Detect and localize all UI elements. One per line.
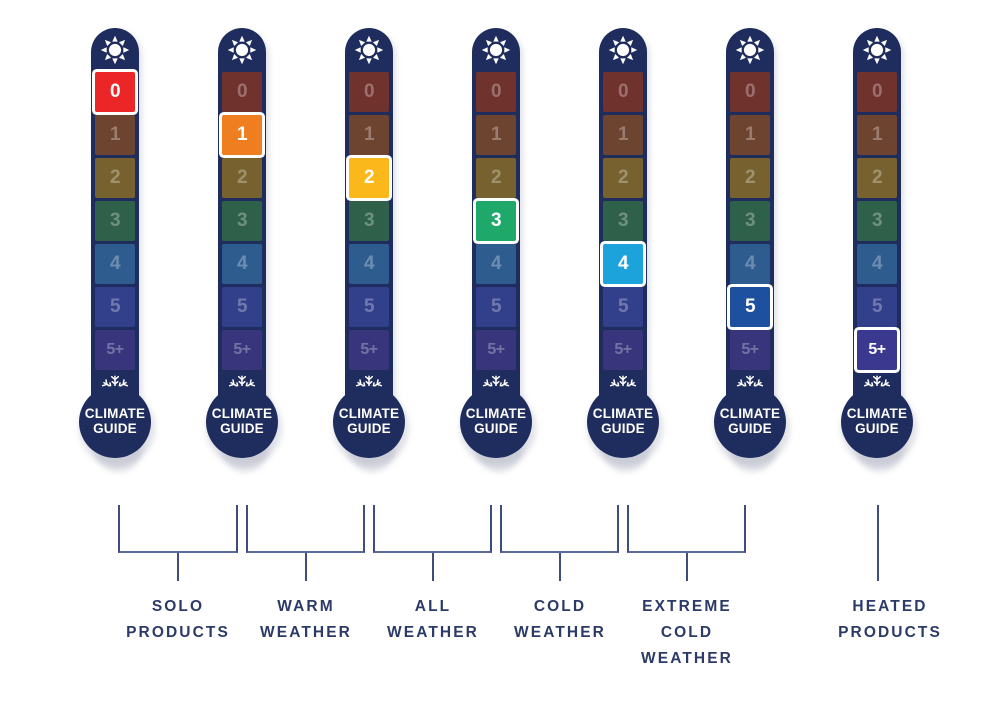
thermometer-level-5plus[interactable]: 0123455+CLIMATEGUIDE xyxy=(853,28,901,428)
level-cell-0[interactable]: 0 xyxy=(730,72,770,112)
level-cell-3[interactable]: 3 xyxy=(349,201,389,241)
group-bracket-warm-weather xyxy=(246,505,365,553)
level-scale: 0123455+ xyxy=(222,72,262,370)
level-cell-4[interactable]: 4 xyxy=(857,244,897,284)
group-bracket-extreme-cold-weather xyxy=(627,505,746,553)
level-cell-4-active[interactable]: 4 xyxy=(603,244,643,284)
level-cell-0[interactable]: 0 xyxy=(857,72,897,112)
level-cell-3[interactable]: 3 xyxy=(857,201,897,241)
level-cell-4[interactable]: 4 xyxy=(730,244,770,284)
level-cell-1[interactable]: 1 xyxy=(603,115,643,155)
level-cell-5plus[interactable]: 5+ xyxy=(95,330,135,370)
level-cell-4[interactable]: 4 xyxy=(476,244,516,284)
level-cell-5plus[interactable]: 5+ xyxy=(349,330,389,370)
thermometer-tube: 0123455+ xyxy=(599,28,647,428)
level-cell-1[interactable]: 1 xyxy=(857,115,897,155)
bulb-label-line2: GUIDE xyxy=(220,422,264,437)
sun-icon xyxy=(95,28,135,72)
climate-guide-bulb[interactable]: CLIMATEGUIDE xyxy=(714,386,786,458)
level-cell-5plus[interactable]: 5+ xyxy=(603,330,643,370)
bulb-label-line1: CLIMATE xyxy=(85,407,145,422)
group-bracket-solo-products xyxy=(118,505,238,553)
bulb-label-line1: CLIMATE xyxy=(720,407,780,422)
bracket-stem xyxy=(177,553,179,581)
level-cell-5plus-active[interactable]: 5+ xyxy=(857,330,897,370)
bulb-label-line2: GUIDE xyxy=(474,422,518,437)
sun-icon xyxy=(857,28,897,72)
bulb-label-line1: CLIMATE xyxy=(847,407,907,422)
level-cell-2-active[interactable]: 2 xyxy=(349,158,389,198)
climate-guide-bulb[interactable]: CLIMATEGUIDE xyxy=(460,386,532,458)
group-label-heated-products: HEATED PRODUCTS xyxy=(810,594,970,646)
thermometer-level-2[interactable]: 0123455+CLIMATEGUIDE xyxy=(345,28,393,428)
climate-guide-bulb[interactable]: CLIMATEGUIDE xyxy=(206,386,278,458)
bracket-stem xyxy=(305,553,307,581)
level-cell-5plus[interactable]: 5+ xyxy=(222,330,262,370)
level-scale: 0123455+ xyxy=(349,72,389,370)
thermometer-level-5[interactable]: 0123455+CLIMATEGUIDE xyxy=(726,28,774,428)
level-cell-3[interactable]: 3 xyxy=(222,201,262,241)
climate-guide-bulb[interactable]: CLIMATEGUIDE xyxy=(79,386,151,458)
bulb-label-line2: GUIDE xyxy=(93,422,137,437)
level-cell-0[interactable]: 0 xyxy=(222,72,262,112)
level-cell-5[interactable]: 5 xyxy=(222,287,262,327)
level-cell-5[interactable]: 5 xyxy=(95,287,135,327)
level-cell-5[interactable]: 5 xyxy=(476,287,516,327)
group-line-heated-products xyxy=(877,505,879,581)
level-cell-1[interactable]: 1 xyxy=(476,115,516,155)
level-cell-5-active[interactable]: 5 xyxy=(730,287,770,327)
bulb-label-line2: GUIDE xyxy=(601,422,645,437)
level-cell-3[interactable]: 3 xyxy=(603,201,643,241)
level-cell-1[interactable]: 1 xyxy=(95,115,135,155)
bracket-stem xyxy=(686,553,688,581)
thermometer-level-4[interactable]: 0123455+CLIMATEGUIDE xyxy=(599,28,647,428)
climate-guide-graphic: 0123455+CLIMATEGUIDE0123455+CLIMATEGUIDE… xyxy=(0,0,1000,720)
level-cell-5[interactable]: 5 xyxy=(349,287,389,327)
bulb-label-line2: GUIDE xyxy=(855,422,899,437)
level-cell-4[interactable]: 4 xyxy=(349,244,389,284)
group-bracket-cold-weather xyxy=(500,505,619,553)
group-label-extreme-cold-weather: EXTREME COLD WEATHER xyxy=(607,594,767,672)
sun-icon xyxy=(222,28,262,72)
level-cell-5plus[interactable]: 5+ xyxy=(730,330,770,370)
level-cell-3[interactable]: 3 xyxy=(730,201,770,241)
level-cell-3[interactable]: 3 xyxy=(95,201,135,241)
level-cell-2[interactable]: 2 xyxy=(730,158,770,198)
thermometer-tube: 0123455+ xyxy=(726,28,774,428)
level-cell-4[interactable]: 4 xyxy=(222,244,262,284)
level-cell-2[interactable]: 2 xyxy=(857,158,897,198)
bulb-label-line1: CLIMATE xyxy=(466,407,526,422)
level-cell-2[interactable]: 2 xyxy=(603,158,643,198)
bulb-label-line2: GUIDE xyxy=(728,422,772,437)
level-cell-0[interactable]: 0 xyxy=(349,72,389,112)
thermometer-tube: 0123455+ xyxy=(218,28,266,428)
sun-icon xyxy=(730,28,770,72)
thermometer-level-1[interactable]: 0123455+CLIMATEGUIDE xyxy=(218,28,266,428)
level-scale: 0123455+ xyxy=(95,72,135,370)
thermometer-level-0[interactable]: 0123455+CLIMATEGUIDE xyxy=(91,28,139,428)
level-cell-1-active[interactable]: 1 xyxy=(222,115,262,155)
sun-icon xyxy=(476,28,516,72)
level-scale: 0123455+ xyxy=(603,72,643,370)
thermometer-tube: 0123455+ xyxy=(472,28,520,428)
climate-guide-bulb[interactable]: CLIMATEGUIDE xyxy=(587,386,659,458)
level-cell-0-active[interactable]: 0 xyxy=(95,72,135,112)
level-cell-0[interactable]: 0 xyxy=(603,72,643,112)
bulb-label-line1: CLIMATE xyxy=(593,407,653,422)
level-cell-5[interactable]: 5 xyxy=(603,287,643,327)
level-cell-3-active[interactable]: 3 xyxy=(476,201,516,241)
thermometer-tube: 0123455+ xyxy=(853,28,901,428)
level-cell-1[interactable]: 1 xyxy=(349,115,389,155)
level-cell-2[interactable]: 2 xyxy=(222,158,262,198)
level-cell-1[interactable]: 1 xyxy=(730,115,770,155)
level-cell-2[interactable]: 2 xyxy=(476,158,516,198)
bulb-label-line1: CLIMATE xyxy=(339,407,399,422)
level-cell-5[interactable]: 5 xyxy=(857,287,897,327)
bracket-stem xyxy=(559,553,561,581)
level-scale: 0123455+ xyxy=(730,72,770,370)
bracket-stem xyxy=(432,553,434,581)
group-bracket-all-weather xyxy=(373,505,492,553)
level-scale: 0123455+ xyxy=(476,72,516,370)
sun-icon xyxy=(603,28,643,72)
climate-guide-bulb[interactable]: CLIMATEGUIDE xyxy=(333,386,405,458)
level-scale: 0123455+ xyxy=(857,72,897,370)
climate-guide-bulb[interactable]: CLIMATEGUIDE xyxy=(841,386,913,458)
level-cell-0[interactable]: 0 xyxy=(476,72,516,112)
thermometer-tube: 0123455+ xyxy=(91,28,139,428)
level-cell-4[interactable]: 4 xyxy=(95,244,135,284)
level-cell-5plus[interactable]: 5+ xyxy=(476,330,516,370)
level-cell-2[interactable]: 2 xyxy=(95,158,135,198)
bulb-label-line1: CLIMATE xyxy=(212,407,272,422)
sun-icon xyxy=(349,28,389,72)
bulb-label-line2: GUIDE xyxy=(347,422,391,437)
thermometer-tube: 0123455+ xyxy=(345,28,393,428)
thermometer-level-3[interactable]: 0123455+CLIMATEGUIDE xyxy=(472,28,520,428)
